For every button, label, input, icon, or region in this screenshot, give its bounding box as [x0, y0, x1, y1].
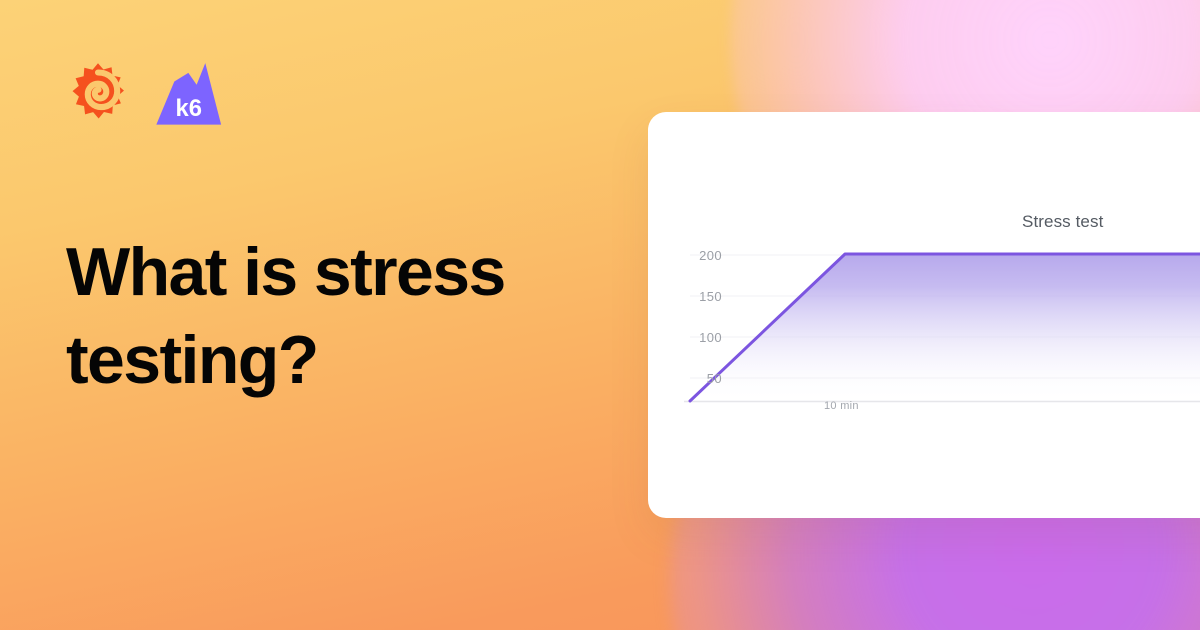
stress-test-area-chart	[648, 112, 1200, 518]
y-tick-100: 100	[680, 330, 722, 345]
k6-wordmark: k6	[176, 95, 202, 122]
k6-logo-icon: k6	[152, 57, 224, 129]
brand-logo-group: k6	[66, 57, 224, 129]
page-title: What is stress testing?	[66, 228, 626, 404]
chart-card: Stress test 200 150 100	[648, 112, 1200, 518]
y-tick-150: 150	[680, 289, 722, 304]
y-tick-50: 50	[680, 371, 722, 386]
page-title-line-2: testing?	[66, 322, 318, 398]
chart-y-axis: 200 150 100 50	[648, 112, 722, 518]
grafana-logo-icon	[66, 61, 130, 125]
page-title-line-1: What is stress	[66, 234, 505, 310]
y-tick-200: 200	[680, 248, 722, 263]
x-tick-10-min: 10 min	[824, 400, 859, 412]
